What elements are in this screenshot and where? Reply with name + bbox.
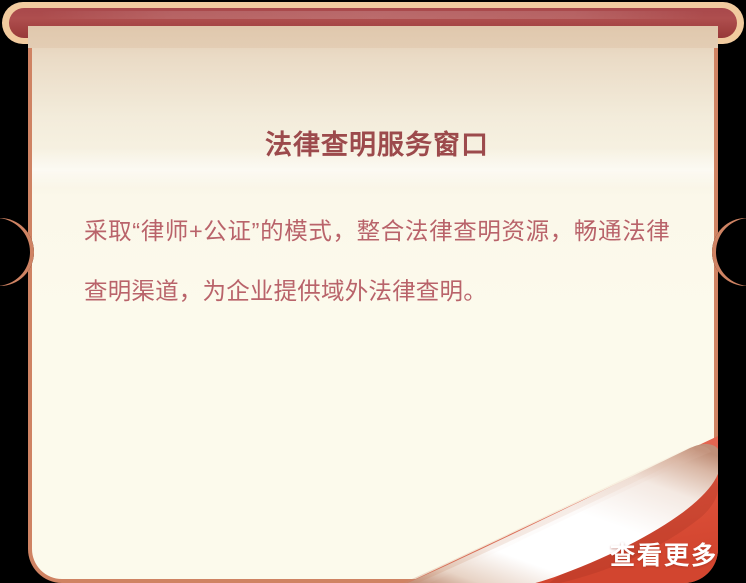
scroll-card-stage: 法律查明服务窗口 采取“律师+公证”的模式，整合法律查明资源，畅通法律查明渠道，… — [0, 0, 746, 583]
scroll-rod-sheet-join — [28, 26, 718, 48]
view-more-button[interactable]: 查看更多 — [610, 544, 718, 569]
scroll-rod — [0, 0, 746, 46]
card-content: 法律查明服务窗口 采取“律师+公证”的模式，整合法律查明资源，畅通法律查明渠道，… — [32, 28, 718, 321]
card-description: 采取“律师+公证”的模式，整合法律查明资源，畅通法律查明渠道，为企业提供域外法律… — [32, 159, 718, 321]
scroll-paper-sheet: 法律查明服务窗口 采取“律师+公证”的模式，整合法律查明资源，畅通法律查明渠道，… — [28, 28, 718, 583]
